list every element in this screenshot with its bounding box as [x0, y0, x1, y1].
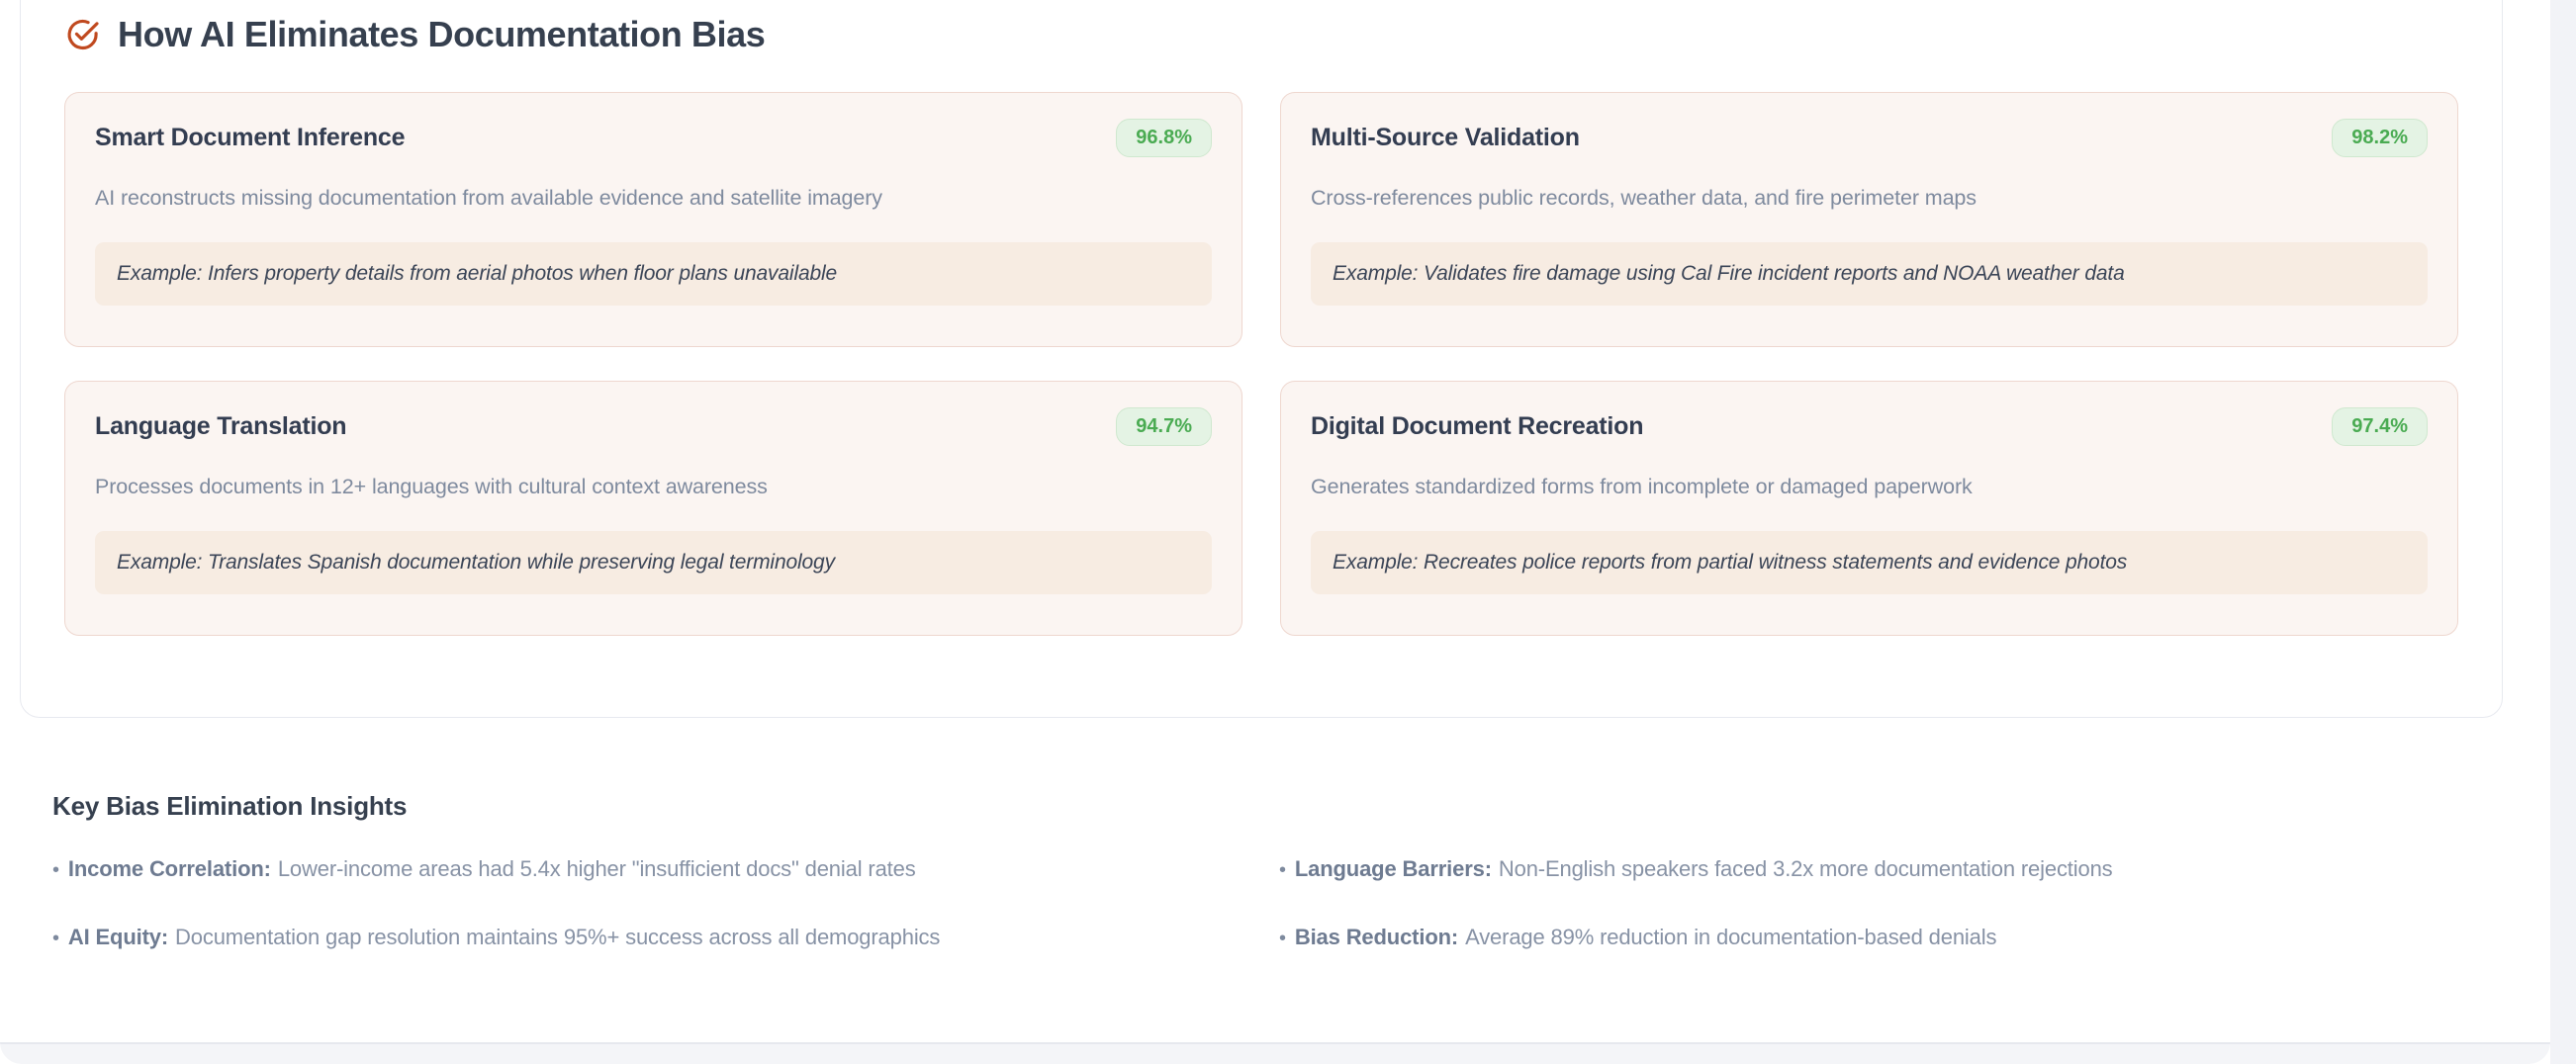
insight-label: Language Barriers:: [1295, 856, 1492, 881]
section-header: How AI Eliminates Documentation Bias: [64, 0, 2458, 54]
feature-card-grid: Smart Document Inference 96.8% AI recons…: [64, 92, 2458, 636]
accuracy-badge: 97.4%: [2332, 407, 2428, 446]
card-title: Language Translation: [95, 411, 346, 441]
bottom-background: [0, 1044, 2550, 1064]
insight-body: Income Correlation:Lower-income areas ha…: [68, 855, 916, 884]
feature-card[interactable]: Language Translation 94.7% Processes doc…: [64, 381, 1242, 636]
card-title: Multi-Source Validation: [1311, 123, 1580, 152]
insight-label: Bias Reduction:: [1295, 925, 1458, 949]
bullet-icon: •: [1279, 929, 1286, 948]
card-description: Processes documents in 12+ languages wit…: [95, 473, 1212, 501]
card-description: Cross-references public records, weather…: [1311, 184, 2428, 213]
accuracy-badge: 94.7%: [1116, 407, 1212, 446]
card-example: Example: Translates Spanish documentatio…: [95, 531, 1212, 594]
card-header: Language Translation 94.7%: [95, 407, 1212, 446]
card-title: Smart Document Inference: [95, 123, 405, 152]
insight-item: • AI Equity:Documentation gap resolution…: [52, 924, 1279, 952]
bullet-icon: •: [1279, 860, 1286, 880]
insight-body: Bias Reduction:Average 89% reduction in …: [1295, 924, 1997, 952]
page-title: How AI Eliminates Documentation Bias: [118, 15, 765, 54]
card-example: Example: Infers property details from ae…: [95, 242, 1212, 306]
insight-text: Average 89% reduction in documentation-b…: [1465, 925, 1996, 949]
bullet-icon: •: [52, 929, 59, 948]
insight-text: Lower-income areas had 5.4x higher "insu…: [278, 856, 916, 881]
page-surface: How AI Eliminates Documentation Bias Sma…: [0, 0, 2550, 1064]
insight-item: • Language Barriers:Non-English speakers…: [1279, 855, 2486, 884]
feature-card[interactable]: Multi-Source Validation 98.2% Cross-refe…: [1280, 92, 2458, 347]
card-header: Multi-Source Validation 98.2%: [1311, 119, 2428, 157]
insight-body: Language Barriers:Non-English speakers f…: [1295, 855, 2113, 884]
bullet-icon: •: [52, 860, 59, 880]
key-insights-section: Key Bias Elimination Insights • Income C…: [52, 791, 2486, 951]
insights-heading: Key Bias Elimination Insights: [52, 791, 2486, 822]
card-header: Digital Document Recreation 97.4%: [1311, 407, 2428, 446]
card-example: Example: Validates fire damage using Cal…: [1311, 242, 2428, 306]
accuracy-badge: 98.2%: [2332, 119, 2428, 157]
card-description: AI reconstructs missing documentation fr…: [95, 184, 1212, 213]
card-header: Smart Document Inference 96.8%: [95, 119, 1212, 157]
feature-card[interactable]: Digital Document Recreation 97.4% Genera…: [1280, 381, 2458, 636]
insights-grid: • Income Correlation:Lower-income areas …: [52, 855, 2486, 951]
insight-text: Non-English speakers faced 3.2x more doc…: [1499, 856, 2113, 881]
card-title: Digital Document Recreation: [1311, 411, 1643, 441]
card-description: Generates standardized forms from incomp…: [1311, 473, 2428, 501]
insight-item: • Income Correlation:Lower-income areas …: [52, 855, 1279, 884]
accuracy-badge: 96.8%: [1116, 119, 1212, 157]
circle-check-icon: [64, 17, 100, 52]
insight-item: • Bias Reduction:Average 89% reduction i…: [1279, 924, 2486, 952]
insight-label: Income Correlation:: [68, 856, 271, 881]
documentation-bias-section: How AI Eliminates Documentation Bias Sma…: [20, 0, 2503, 718]
page-scroll-gutter[interactable]: [2550, 0, 2576, 1064]
feature-card[interactable]: Smart Document Inference 96.8% AI recons…: [64, 92, 1242, 347]
insight-body: AI Equity:Documentation gap resolution m…: [68, 924, 940, 952]
card-example: Example: Recreates police reports from p…: [1311, 531, 2428, 594]
insight-label: AI Equity:: [68, 925, 168, 949]
insight-text: Documentation gap resolution maintains 9…: [175, 925, 940, 949]
